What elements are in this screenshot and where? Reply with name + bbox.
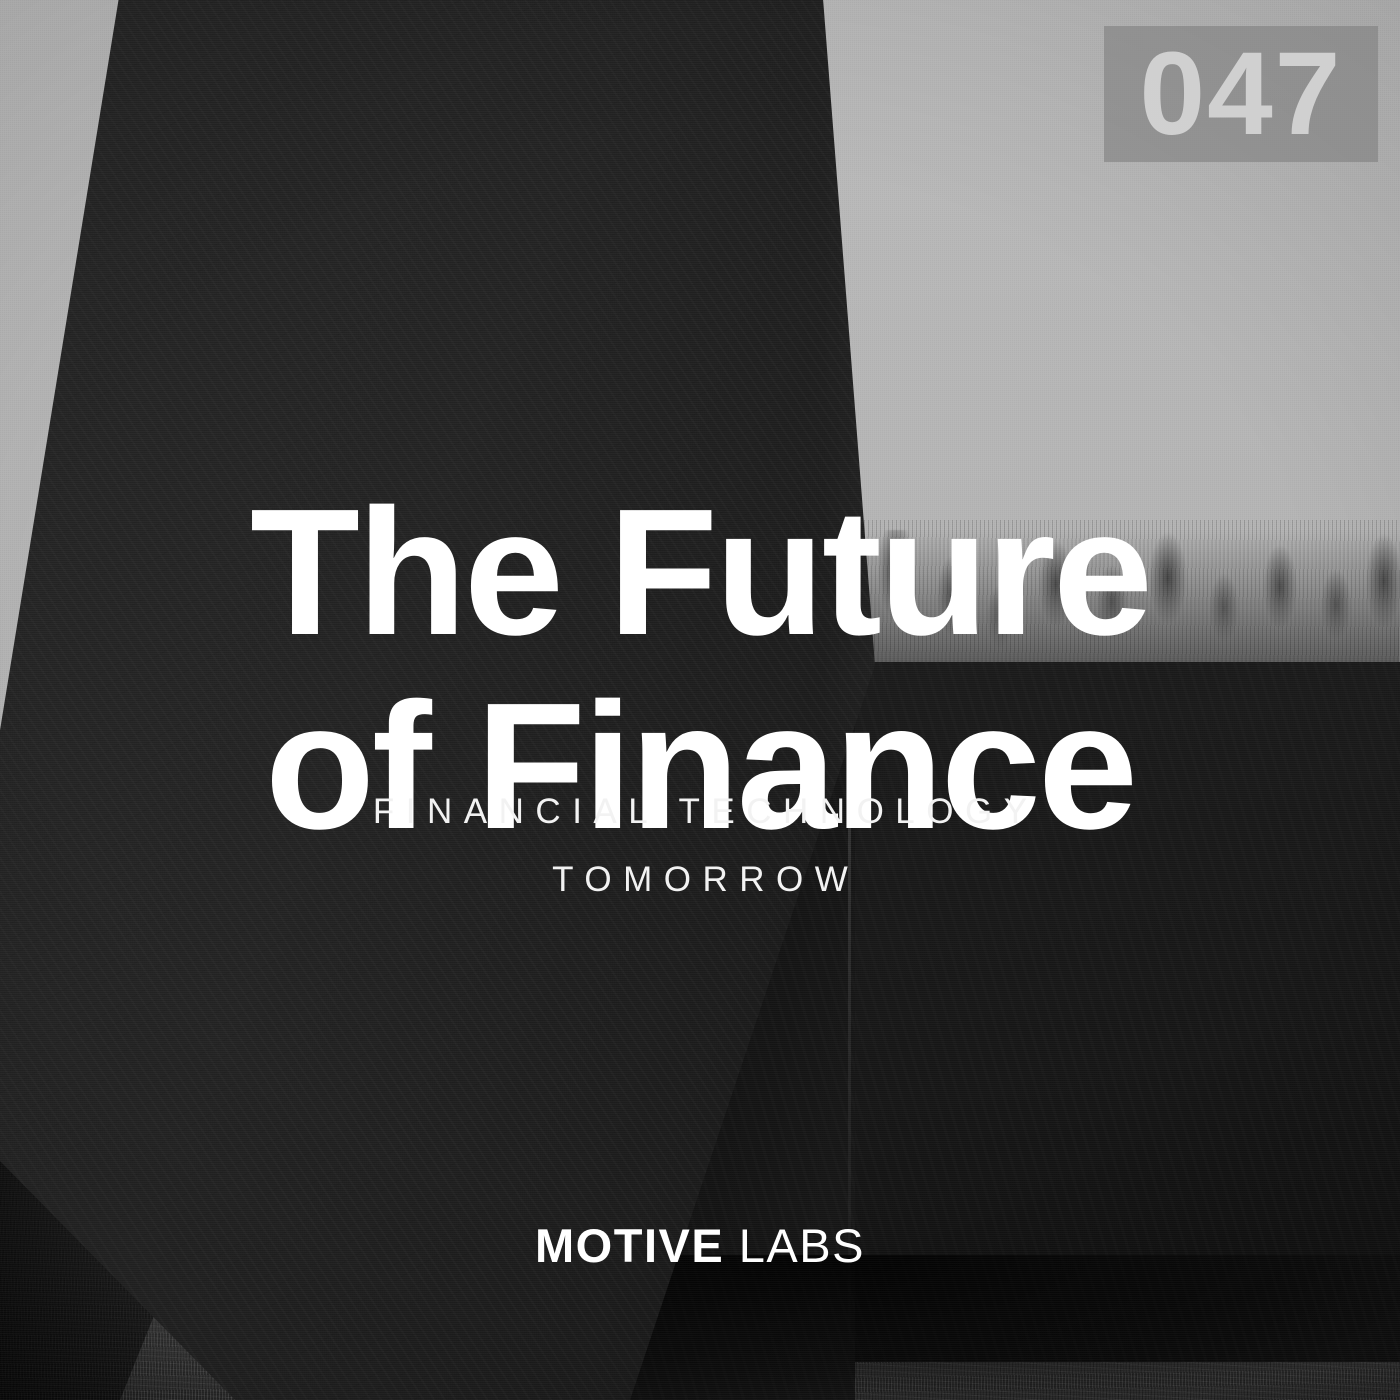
subtitle-line-1: FINANCIAL TECHNOLOGY xyxy=(0,778,1400,846)
brand-name-bold: MOTIVE xyxy=(535,1219,724,1272)
brand-logo: MOTIVE LABS xyxy=(0,1222,1400,1269)
podcast-cover-artwork: 047 The Future of Finance FINANCIAL TECH… xyxy=(0,0,1400,1400)
brand-name-light: LABS xyxy=(739,1219,865,1272)
text-overlay: The Future of Finance FINANCIAL TECHNOLO… xyxy=(0,0,1400,1400)
title-line-1: The Future xyxy=(0,476,1400,670)
subtitle-line-2: TOMORROW xyxy=(0,846,1400,914)
subtitle: FINANCIAL TECHNOLOGY TOMORROW xyxy=(0,778,1400,915)
